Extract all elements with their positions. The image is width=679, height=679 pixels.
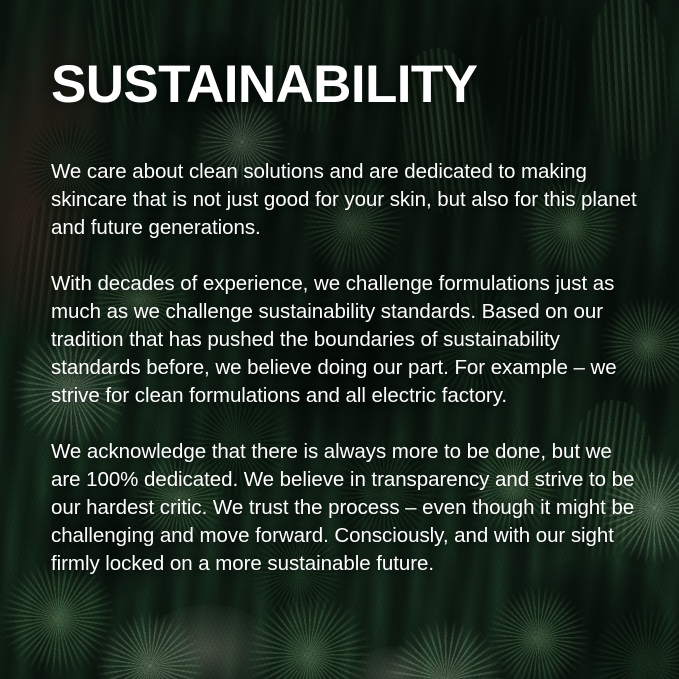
statement-body: We care about clean solutions and are de… (51, 158, 651, 578)
statement-content: SUSTAINABILITY We care about clean solut… (51, 57, 651, 578)
page-title: SUSTAINABILITY (51, 57, 651, 112)
sustainability-poster: SUSTAINABILITY We care about clean solut… (0, 0, 679, 679)
statement-paragraph-2: With decades of experience, we challenge… (51, 270, 645, 410)
statement-paragraph-3: We acknowledge that there is always more… (51, 438, 645, 578)
statement-paragraph-1: We care about clean solutions and are de… (51, 158, 645, 242)
